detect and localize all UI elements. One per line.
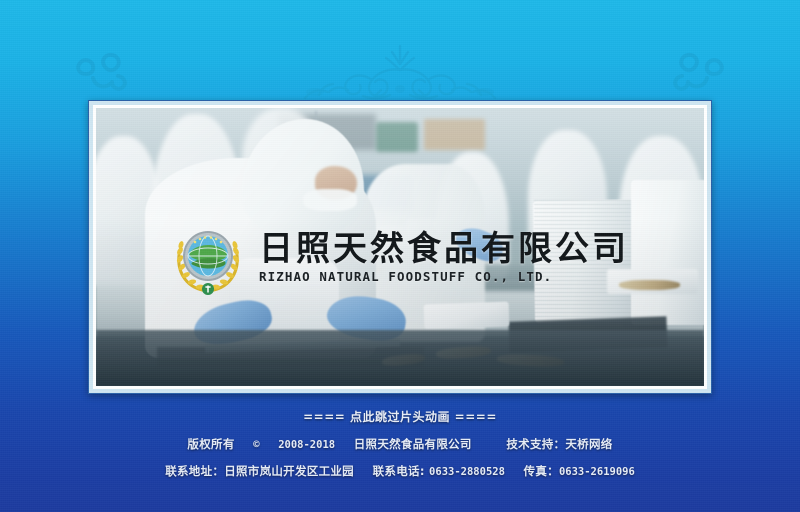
- address-label: 联系地址：: [165, 464, 224, 478]
- copyright-line: 版权所有 © 2008-2018 日照天然食品有限公司 技术支持：天桥网络: [0, 436, 800, 452]
- cloud-motif-icon: [72, 48, 142, 99]
- skip-intro-link[interactable]: ==== 点此跳过片头动画 ====: [303, 408, 497, 425]
- copyright-years: 2008-2018: [278, 439, 335, 451]
- footer: ==== 点此跳过片头动画 ==== 版权所有 © 2008-2018 日照天然…: [0, 406, 800, 479]
- copyright-label: 版权所有: [187, 437, 234, 451]
- fax-value: 0633-2619096: [559, 466, 635, 478]
- floral-scroll-ornament-icon: [245, 42, 555, 109]
- copyright-company: 日照天然食品有限公司: [354, 437, 472, 451]
- address-value: 日照市岚山开发区工业园: [224, 464, 354, 478]
- page-root: 日照天然食品有限公司 RIZHAO NATURAL FOODSTUFF CO.,…: [0, 0, 800, 512]
- copyright-symbol: ©: [253, 439, 259, 451]
- phone-label: 联系电话:: [373, 464, 425, 478]
- phone-value: 0633-2880528: [429, 466, 505, 478]
- factory-photo: [96, 108, 704, 386]
- intro-photo-frame: 日照天然食品有限公司 RIZHAO NATURAL FOODSTUFF CO.,…: [88, 100, 712, 394]
- fax-label: 传真：: [524, 464, 559, 478]
- photo-frame-inner-border: 日照天然食品有限公司 RIZHAO NATURAL FOODSTUFF CO.,…: [93, 105, 707, 389]
- tech-support-label: 技术支持：: [506, 437, 565, 451]
- contact-line: 联系地址：日照市岚山开发区工业园 联系电话: 0633-2880528 传真：0…: [0, 463, 800, 479]
- cloud-motif-icon: [658, 48, 728, 99]
- tech-support-value: 天桥网络: [565, 437, 612, 451]
